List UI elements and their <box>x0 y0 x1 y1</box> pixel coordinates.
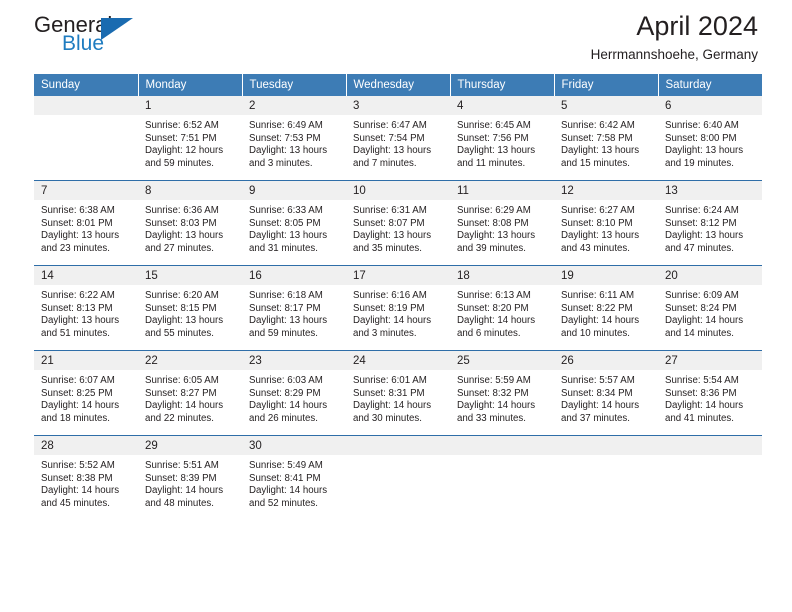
daylight-duration-line1: Daylight: 14 hours <box>665 400 756 413</box>
sunrise-time: Sunrise: 6:38 AM <box>41 205 132 218</box>
calendar-day-cell[interactable]: 29Sunrise: 5:51 AMSunset: 8:39 PMDayligh… <box>138 436 242 521</box>
daylight-duration-line2: and 33 minutes. <box>457 413 548 426</box>
daylight-duration-line1: Daylight: 14 hours <box>249 485 340 498</box>
day-cell-details: Sunrise: 5:51 AMSunset: 8:39 PMDaylight:… <box>138 455 242 510</box>
daylight-duration-line1: Daylight: 13 hours <box>41 315 132 328</box>
day-cell-details: Sunrise: 6:33 AMSunset: 8:05 PMDaylight:… <box>242 200 346 255</box>
day-number-band <box>34 96 138 115</box>
calendar-day-cell[interactable]: 13Sunrise: 6:24 AMSunset: 8:12 PMDayligh… <box>658 181 762 266</box>
sunrise-time: Sunrise: 6:31 AM <box>353 205 444 218</box>
day-cell-inner: 14Sunrise: 6:22 AMSunset: 8:13 PMDayligh… <box>34 266 138 350</box>
daylight-duration-line2: and 43 minutes. <box>561 243 652 256</box>
calendar-day-cell <box>346 436 450 521</box>
sunset-time: Sunset: 7:54 PM <box>353 133 444 146</box>
day-cell-details: Sunrise: 6:38 AMSunset: 8:01 PMDaylight:… <box>34 200 138 255</box>
calendar-day-cell[interactable]: 8Sunrise: 6:36 AMSunset: 8:03 PMDaylight… <box>138 181 242 266</box>
day-number-band: 7 <box>34 181 138 200</box>
dow-header-wednesday: Wednesday <box>346 74 450 96</box>
day-cell-inner: 10Sunrise: 6:31 AMSunset: 8:07 PMDayligh… <box>346 181 450 265</box>
day-cell-details: Sunrise: 6:20 AMSunset: 8:15 PMDaylight:… <box>138 285 242 340</box>
daylight-duration-line2: and 6 minutes. <box>457 328 548 341</box>
dow-header-sunday: Sunday <box>34 74 138 96</box>
calendar-day-cell[interactable]: 9Sunrise: 6:33 AMSunset: 8:05 PMDaylight… <box>242 181 346 266</box>
daylight-duration-line2: and 39 minutes. <box>457 243 548 256</box>
sunrise-time: Sunrise: 6:07 AM <box>41 375 132 388</box>
daylight-duration-line2: and 41 minutes. <box>665 413 756 426</box>
logo-text-blue: Blue <box>62 33 104 54</box>
day-cell-details: Sunrise: 6:40 AMSunset: 8:00 PMDaylight:… <box>658 115 762 170</box>
sunrise-time: Sunrise: 5:54 AM <box>665 375 756 388</box>
sunrise-time: Sunrise: 6:40 AM <box>665 120 756 133</box>
daylight-duration-line2: and 7 minutes. <box>353 158 444 171</box>
sunset-time: Sunset: 8:01 PM <box>41 218 132 231</box>
daylight-duration-line2: and 59 minutes. <box>249 328 340 341</box>
day-number: 14 <box>34 266 138 283</box>
calendar-page: General Blue April 2024 Herrmannshoehe, … <box>0 0 792 612</box>
calendar-day-cell[interactable]: 7Sunrise: 6:38 AMSunset: 8:01 PMDaylight… <box>34 181 138 266</box>
sunrise-time: Sunrise: 6:01 AM <box>353 375 444 388</box>
daylight-duration-line2: and 48 minutes. <box>145 498 236 511</box>
day-number: 24 <box>346 351 450 368</box>
daylight-duration-line2: and 47 minutes. <box>665 243 756 256</box>
day-cell-details: Sunrise: 6:09 AMSunset: 8:24 PMDaylight:… <box>658 285 762 340</box>
day-number: 20 <box>658 266 762 283</box>
calendar-day-cell <box>554 436 658 521</box>
location-subtitle: Herrmannshoehe, Germany <box>591 46 758 64</box>
calendar-day-cell[interactable]: 23Sunrise: 6:03 AMSunset: 8:29 PMDayligh… <box>242 351 346 436</box>
calendar-day-cell[interactable]: 19Sunrise: 6:11 AMSunset: 8:22 PMDayligh… <box>554 266 658 351</box>
day-cell-inner: 11Sunrise: 6:29 AMSunset: 8:08 PMDayligh… <box>450 181 554 265</box>
day-number-band <box>658 436 762 455</box>
sunset-time: Sunset: 8:36 PM <box>665 388 756 401</box>
sunrise-time: Sunrise: 6:52 AM <box>145 120 236 133</box>
sunrise-time: Sunrise: 6:09 AM <box>665 290 756 303</box>
daylight-duration-line2: and 55 minutes. <box>145 328 236 341</box>
day-cell-details: Sunrise: 6:52 AMSunset: 7:51 PMDaylight:… <box>138 115 242 170</box>
calendar-day-cell[interactable]: 1Sunrise: 6:52 AMSunset: 7:51 PMDaylight… <box>138 96 242 181</box>
daylight-duration-line2: and 30 minutes. <box>353 413 444 426</box>
day-cell-inner: 30Sunrise: 5:49 AMSunset: 8:41 PMDayligh… <box>242 436 346 520</box>
title-block: April 2024 Herrmannshoehe, Germany <box>591 10 758 64</box>
day-number-band: 30 <box>242 436 346 455</box>
day-number: 16 <box>242 266 346 283</box>
calendar-week-row: 14Sunrise: 6:22 AMSunset: 8:13 PMDayligh… <box>34 266 762 351</box>
day-cell-details: Sunrise: 6:01 AMSunset: 8:31 PMDaylight:… <box>346 370 450 425</box>
day-number-band: 21 <box>34 351 138 370</box>
daylight-duration-line2: and 15 minutes. <box>561 158 652 171</box>
daylight-duration-line1: Daylight: 13 hours <box>561 145 652 158</box>
day-cell-details: Sunrise: 6:16 AMSunset: 8:19 PMDaylight:… <box>346 285 450 340</box>
logo-triangle-icon <box>101 18 133 40</box>
dow-header-thursday: Thursday <box>450 74 554 96</box>
day-cell-details: Sunrise: 6:18 AMSunset: 8:17 PMDaylight:… <box>242 285 346 340</box>
day-cell-inner: 1Sunrise: 6:52 AMSunset: 7:51 PMDaylight… <box>138 96 242 180</box>
calendar-day-cell[interactable]: 5Sunrise: 6:42 AMSunset: 7:58 PMDaylight… <box>554 96 658 181</box>
day-number-band: 18 <box>450 266 554 285</box>
day-number-band: 9 <box>242 181 346 200</box>
day-cell-inner: 18Sunrise: 6:13 AMSunset: 8:20 PMDayligh… <box>450 266 554 350</box>
sunset-time: Sunset: 7:56 PM <box>457 133 548 146</box>
dow-header-saturday: Saturday <box>658 74 762 96</box>
day-number-band: 13 <box>658 181 762 200</box>
calendar-day-cell[interactable]: 3Sunrise: 6:47 AMSunset: 7:54 PMDaylight… <box>346 96 450 181</box>
day-number-band: 4 <box>450 96 554 115</box>
day-number: 21 <box>34 351 138 368</box>
day-number: 11 <box>450 181 554 198</box>
day-cell-details: Sunrise: 6:03 AMSunset: 8:29 PMDaylight:… <box>242 370 346 425</box>
day-cell-inner <box>554 436 658 520</box>
day-number <box>346 436 450 439</box>
day-number: 9 <box>242 181 346 198</box>
day-cell-inner: 20Sunrise: 6:09 AMSunset: 8:24 PMDayligh… <box>658 266 762 350</box>
calendar-day-cell[interactable]: 6Sunrise: 6:40 AMSunset: 8:00 PMDaylight… <box>658 96 762 181</box>
day-cell-details: Sunrise: 6:11 AMSunset: 8:22 PMDaylight:… <box>554 285 658 340</box>
daylight-duration-line2: and 26 minutes. <box>249 413 340 426</box>
calendar-day-cell[interactable]: 17Sunrise: 6:16 AMSunset: 8:19 PMDayligh… <box>346 266 450 351</box>
day-number-band: 28 <box>34 436 138 455</box>
day-number <box>34 96 138 99</box>
day-cell-inner <box>658 436 762 520</box>
calendar-day-cell[interactable]: 4Sunrise: 6:45 AMSunset: 7:56 PMDaylight… <box>450 96 554 181</box>
sunrise-time: Sunrise: 6:13 AM <box>457 290 548 303</box>
sunrise-time: Sunrise: 6:22 AM <box>41 290 132 303</box>
sunset-time: Sunset: 8:29 PM <box>249 388 340 401</box>
day-number-band: 6 <box>658 96 762 115</box>
day-number-band <box>554 436 658 455</box>
day-number <box>450 436 554 439</box>
sunset-time: Sunset: 8:32 PM <box>457 388 548 401</box>
calendar-day-cell[interactable]: 21Sunrise: 6:07 AMSunset: 8:25 PMDayligh… <box>34 351 138 436</box>
daylight-duration-line2: and 45 minutes. <box>41 498 132 511</box>
calendar-day-cell[interactable]: 2Sunrise: 6:49 AMSunset: 7:53 PMDaylight… <box>242 96 346 181</box>
day-cell-inner: 21Sunrise: 6:07 AMSunset: 8:25 PMDayligh… <box>34 351 138 435</box>
sunrise-time: Sunrise: 6:05 AM <box>145 375 236 388</box>
sunset-time: Sunset: 8:19 PM <box>353 303 444 316</box>
day-cell-details: Sunrise: 6:36 AMSunset: 8:03 PMDaylight:… <box>138 200 242 255</box>
day-number-band: 12 <box>554 181 658 200</box>
dow-header-friday: Friday <box>554 74 658 96</box>
day-cell-inner <box>34 96 138 180</box>
day-number: 29 <box>138 436 242 453</box>
day-number-band: 3 <box>346 96 450 115</box>
day-cell-details: Sunrise: 6:22 AMSunset: 8:13 PMDaylight:… <box>34 285 138 340</box>
day-number-band: 17 <box>346 266 450 285</box>
calendar-day-cell[interactable]: 12Sunrise: 6:27 AMSunset: 8:10 PMDayligh… <box>554 181 658 266</box>
day-number-band: 22 <box>138 351 242 370</box>
daylight-duration-line2: and 52 minutes. <box>249 498 340 511</box>
day-number: 4 <box>450 96 554 113</box>
day-number: 1 <box>138 96 242 113</box>
calendar-day-cell[interactable]: 30Sunrise: 5:49 AMSunset: 8:41 PMDayligh… <box>242 436 346 521</box>
sunset-time: Sunset: 8:07 PM <box>353 218 444 231</box>
daylight-duration-line1: Daylight: 13 hours <box>665 230 756 243</box>
sunrise-time: Sunrise: 6:11 AM <box>561 290 652 303</box>
day-cell-details: Sunrise: 6:13 AMSunset: 8:20 PMDaylight:… <box>450 285 554 340</box>
day-number-band <box>450 436 554 455</box>
day-cell-inner: 28Sunrise: 5:52 AMSunset: 8:38 PMDayligh… <box>34 436 138 520</box>
day-number: 7 <box>34 181 138 198</box>
sunrise-time: Sunrise: 6:20 AM <box>145 290 236 303</box>
daylight-duration-line2: and 51 minutes. <box>41 328 132 341</box>
calendar-day-cell[interactable]: 25Sunrise: 5:59 AMSunset: 8:32 PMDayligh… <box>450 351 554 436</box>
calendar-day-cell[interactable]: 20Sunrise: 6:09 AMSunset: 8:24 PMDayligh… <box>658 266 762 351</box>
sunset-time: Sunset: 8:08 PM <box>457 218 548 231</box>
calendar-day-cell <box>658 436 762 521</box>
day-cell-inner: 15Sunrise: 6:20 AMSunset: 8:15 PMDayligh… <box>138 266 242 350</box>
day-number: 22 <box>138 351 242 368</box>
calendar-day-cell <box>450 436 554 521</box>
day-cell-inner <box>450 436 554 520</box>
day-cell-inner: 29Sunrise: 5:51 AMSunset: 8:39 PMDayligh… <box>138 436 242 520</box>
day-cell-inner: 25Sunrise: 5:59 AMSunset: 8:32 PMDayligh… <box>450 351 554 435</box>
day-number-band: 25 <box>450 351 554 370</box>
sunset-time: Sunset: 8:38 PM <box>41 473 132 486</box>
calendar-day-cell[interactable]: 18Sunrise: 6:13 AMSunset: 8:20 PMDayligh… <box>450 266 554 351</box>
day-cell-details: Sunrise: 6:49 AMSunset: 7:53 PMDaylight:… <box>242 115 346 170</box>
daylight-duration-line2: and 3 minutes. <box>353 328 444 341</box>
dow-header-tuesday: Tuesday <box>242 74 346 96</box>
day-cell-details: Sunrise: 6:24 AMSunset: 8:12 PMDaylight:… <box>658 200 762 255</box>
sunrise-time: Sunrise: 6:49 AM <box>249 120 340 133</box>
page-header: General Blue April 2024 Herrmannshoehe, … <box>34 0 758 74</box>
day-number-band: 24 <box>346 351 450 370</box>
day-cell-inner: 23Sunrise: 6:03 AMSunset: 8:29 PMDayligh… <box>242 351 346 435</box>
daylight-duration-line1: Daylight: 14 hours <box>457 315 548 328</box>
sunrise-time: Sunrise: 6:03 AM <box>249 375 340 388</box>
daylight-duration-line2: and 27 minutes. <box>145 243 236 256</box>
daylight-duration-line2: and 59 minutes. <box>145 158 236 171</box>
calendar-day-cell <box>34 96 138 181</box>
sunrise-time: Sunrise: 5:51 AM <box>145 460 236 473</box>
daylight-duration-line1: Daylight: 13 hours <box>145 315 236 328</box>
day-number-band: 11 <box>450 181 554 200</box>
day-cell-details: Sunrise: 5:57 AMSunset: 8:34 PMDaylight:… <box>554 370 658 425</box>
day-number <box>658 436 762 439</box>
daylight-duration-line2: and 10 minutes. <box>561 328 652 341</box>
day-cell-details: Sunrise: 6:31 AMSunset: 8:07 PMDaylight:… <box>346 200 450 255</box>
sunrise-time: Sunrise: 5:49 AM <box>249 460 340 473</box>
daylight-duration-line1: Daylight: 13 hours <box>353 145 444 158</box>
sunrise-time: Sunrise: 6:33 AM <box>249 205 340 218</box>
day-number-band: 5 <box>554 96 658 115</box>
day-cell-inner: 3Sunrise: 6:47 AMSunset: 7:54 PMDaylight… <box>346 96 450 180</box>
calendar-week-row: 21Sunrise: 6:07 AMSunset: 8:25 PMDayligh… <box>34 351 762 436</box>
sunrise-time: Sunrise: 5:59 AM <box>457 375 548 388</box>
calendar-day-cell[interactable]: 14Sunrise: 6:22 AMSunset: 8:13 PMDayligh… <box>34 266 138 351</box>
calendar-week-row: 7Sunrise: 6:38 AMSunset: 8:01 PMDaylight… <box>34 181 762 266</box>
calendar-day-cell[interactable]: 28Sunrise: 5:52 AMSunset: 8:38 PMDayligh… <box>34 436 138 521</box>
calendar-day-cell[interactable]: 27Sunrise: 5:54 AMSunset: 8:36 PMDayligh… <box>658 351 762 436</box>
day-number: 28 <box>34 436 138 453</box>
daylight-duration-line2: and 37 minutes. <box>561 413 652 426</box>
day-number: 18 <box>450 266 554 283</box>
calendar-day-cell[interactable]: 24Sunrise: 6:01 AMSunset: 8:31 PMDayligh… <box>346 351 450 436</box>
daylight-duration-line2: and 14 minutes. <box>665 328 756 341</box>
day-number: 8 <box>138 181 242 198</box>
sunset-time: Sunset: 8:03 PM <box>145 218 236 231</box>
day-number <box>554 436 658 439</box>
day-number: 23 <box>242 351 346 368</box>
day-number-band: 2 <box>242 96 346 115</box>
day-cell-inner: 13Sunrise: 6:24 AMSunset: 8:12 PMDayligh… <box>658 181 762 265</box>
day-number-band: 16 <box>242 266 346 285</box>
sunset-time: Sunset: 8:05 PM <box>249 218 340 231</box>
calendar-day-cell[interactable]: 15Sunrise: 6:20 AMSunset: 8:15 PMDayligh… <box>138 266 242 351</box>
day-number-band: 15 <box>138 266 242 285</box>
day-number-band: 8 <box>138 181 242 200</box>
day-cell-inner: 24Sunrise: 6:01 AMSunset: 8:31 PMDayligh… <box>346 351 450 435</box>
day-number-band: 29 <box>138 436 242 455</box>
sunset-time: Sunset: 8:10 PM <box>561 218 652 231</box>
daylight-duration-line1: Daylight: 14 hours <box>561 400 652 413</box>
day-number-band: 26 <box>554 351 658 370</box>
daylight-duration-line2: and 18 minutes. <box>41 413 132 426</box>
sunrise-time: Sunrise: 6:29 AM <box>457 205 548 218</box>
day-cell-inner: 12Sunrise: 6:27 AMSunset: 8:10 PMDayligh… <box>554 181 658 265</box>
daylight-duration-line1: Daylight: 13 hours <box>249 230 340 243</box>
day-cell-inner: 6Sunrise: 6:40 AMSunset: 8:00 PMDaylight… <box>658 96 762 180</box>
sunset-time: Sunset: 8:27 PM <box>145 388 236 401</box>
day-number-band: 23 <box>242 351 346 370</box>
day-cell-inner: 9Sunrise: 6:33 AMSunset: 8:05 PMDaylight… <box>242 181 346 265</box>
daylight-duration-line2: and 3 minutes. <box>249 158 340 171</box>
day-cell-inner: 7Sunrise: 6:38 AMSunset: 8:01 PMDaylight… <box>34 181 138 265</box>
sunrise-time: Sunrise: 6:36 AM <box>145 205 236 218</box>
day-cell-inner <box>346 436 450 520</box>
daylight-duration-line2: and 19 minutes. <box>665 158 756 171</box>
daylight-duration-line1: Daylight: 14 hours <box>665 315 756 328</box>
day-number: 5 <box>554 96 658 113</box>
daylight-duration-line1: Daylight: 13 hours <box>353 230 444 243</box>
sunset-time: Sunset: 8:25 PM <box>41 388 132 401</box>
day-cell-inner: 26Sunrise: 5:57 AMSunset: 8:34 PMDayligh… <box>554 351 658 435</box>
sunset-time: Sunset: 8:15 PM <box>145 303 236 316</box>
daylight-duration-line1: Daylight: 13 hours <box>249 315 340 328</box>
sunset-time: Sunset: 8:39 PM <box>145 473 236 486</box>
sunset-time: Sunset: 8:22 PM <box>561 303 652 316</box>
day-number: 6 <box>658 96 762 113</box>
daylight-duration-line2: and 22 minutes. <box>145 413 236 426</box>
day-cell-details: Sunrise: 6:29 AMSunset: 8:08 PMDaylight:… <box>450 200 554 255</box>
day-cell-inner: 4Sunrise: 6:45 AMSunset: 7:56 PMDaylight… <box>450 96 554 180</box>
day-number: 12 <box>554 181 658 198</box>
daylight-duration-line1: Daylight: 13 hours <box>145 230 236 243</box>
day-number: 27 <box>658 351 762 368</box>
day-cell-details: Sunrise: 6:07 AMSunset: 8:25 PMDaylight:… <box>34 370 138 425</box>
calendar-day-cell[interactable]: 16Sunrise: 6:18 AMSunset: 8:17 PMDayligh… <box>242 266 346 351</box>
daylight-duration-line1: Daylight: 14 hours <box>41 485 132 498</box>
daylight-duration-line1: Daylight: 13 hours <box>41 230 132 243</box>
sunset-time: Sunset: 8:24 PM <box>665 303 756 316</box>
day-number: 26 <box>554 351 658 368</box>
day-cell-details: Sunrise: 6:27 AMSunset: 8:10 PMDaylight:… <box>554 200 658 255</box>
sunrise-time: Sunrise: 6:47 AM <box>353 120 444 133</box>
sunrise-time: Sunrise: 6:16 AM <box>353 290 444 303</box>
daylight-duration-line1: Daylight: 14 hours <box>561 315 652 328</box>
day-cell-inner: 19Sunrise: 6:11 AMSunset: 8:22 PMDayligh… <box>554 266 658 350</box>
day-cell-inner: 8Sunrise: 6:36 AMSunset: 8:03 PMDaylight… <box>138 181 242 265</box>
day-number-band: 27 <box>658 351 762 370</box>
day-number-band: 14 <box>34 266 138 285</box>
daylight-duration-line1: Daylight: 14 hours <box>145 400 236 413</box>
day-number-band <box>346 436 450 455</box>
daylight-duration-line2: and 31 minutes. <box>249 243 340 256</box>
day-number: 2 <box>242 96 346 113</box>
day-number: 13 <box>658 181 762 198</box>
sunset-time: Sunset: 8:12 PM <box>665 218 756 231</box>
calendar-body: 1Sunrise: 6:52 AMSunset: 7:51 PMDaylight… <box>34 96 762 520</box>
sunrise-sunset-calendar: Sunday Monday Tuesday Wednesday Thursday… <box>34 74 762 520</box>
day-cell-inner: 17Sunrise: 6:16 AMSunset: 8:19 PMDayligh… <box>346 266 450 350</box>
sunrise-time: Sunrise: 6:42 AM <box>561 120 652 133</box>
sunset-time: Sunset: 8:13 PM <box>41 303 132 316</box>
daylight-duration-line1: Daylight: 13 hours <box>249 145 340 158</box>
daylight-duration-line1: Daylight: 14 hours <box>353 400 444 413</box>
day-number-band: 10 <box>346 181 450 200</box>
daylight-duration-line2: and 35 minutes. <box>353 243 444 256</box>
day-cell-details: Sunrise: 6:42 AMSunset: 7:58 PMDaylight:… <box>554 115 658 170</box>
day-cell-inner: 22Sunrise: 6:05 AMSunset: 8:27 PMDayligh… <box>138 351 242 435</box>
sunset-time: Sunset: 7:58 PM <box>561 133 652 146</box>
daylight-duration-line1: Daylight: 14 hours <box>353 315 444 328</box>
day-number: 10 <box>346 181 450 198</box>
day-cell-details: Sunrise: 6:05 AMSunset: 8:27 PMDaylight:… <box>138 370 242 425</box>
day-cell-details: Sunrise: 6:47 AMSunset: 7:54 PMDaylight:… <box>346 115 450 170</box>
sunset-time: Sunset: 8:00 PM <box>665 133 756 146</box>
sunset-time: Sunset: 8:34 PM <box>561 388 652 401</box>
day-number: 17 <box>346 266 450 283</box>
calendar-day-cell[interactable]: 22Sunrise: 6:05 AMSunset: 8:27 PMDayligh… <box>138 351 242 436</box>
day-cell-details: Sunrise: 5:49 AMSunset: 8:41 PMDaylight:… <box>242 455 346 510</box>
day-number-band: 19 <box>554 266 658 285</box>
sunrise-time: Sunrise: 6:24 AM <box>665 205 756 218</box>
sunset-time: Sunset: 8:17 PM <box>249 303 340 316</box>
day-number: 30 <box>242 436 346 453</box>
daylight-duration-line1: Daylight: 14 hours <box>457 400 548 413</box>
daylight-duration-line1: Daylight: 13 hours <box>561 230 652 243</box>
day-of-week-header-row: Sunday Monday Tuesday Wednesday Thursday… <box>34 74 762 96</box>
sunset-time: Sunset: 7:53 PM <box>249 133 340 146</box>
page-title: April 2024 <box>591 10 758 42</box>
day-cell-details: Sunrise: 5:54 AMSunset: 8:36 PMDaylight:… <box>658 370 762 425</box>
daylight-duration-line1: Daylight: 14 hours <box>145 485 236 498</box>
day-cell-details: Sunrise: 5:59 AMSunset: 8:32 PMDaylight:… <box>450 370 554 425</box>
sunrise-time: Sunrise: 5:57 AM <box>561 375 652 388</box>
sunrise-time: Sunrise: 6:18 AM <box>249 290 340 303</box>
day-cell-details: Sunrise: 5:52 AMSunset: 8:38 PMDaylight:… <box>34 455 138 510</box>
daylight-duration-line1: Daylight: 12 hours <box>145 145 236 158</box>
day-number: 25 <box>450 351 554 368</box>
day-number-band: 20 <box>658 266 762 285</box>
daylight-duration-line1: Daylight: 14 hours <box>41 400 132 413</box>
daylight-duration-line2: and 11 minutes. <box>457 158 548 171</box>
dow-header-monday: Monday <box>138 74 242 96</box>
day-number: 15 <box>138 266 242 283</box>
generalblue-logo: General Blue <box>34 14 184 64</box>
calendar-week-row: 28Sunrise: 5:52 AMSunset: 8:38 PMDayligh… <box>34 436 762 521</box>
sunset-time: Sunset: 8:31 PM <box>353 388 444 401</box>
daylight-duration-line1: Daylight: 13 hours <box>457 145 548 158</box>
calendar-day-cell[interactable]: 26Sunrise: 5:57 AMSunset: 8:34 PMDayligh… <box>554 351 658 436</box>
day-cell-inner: 16Sunrise: 6:18 AMSunset: 8:17 PMDayligh… <box>242 266 346 350</box>
calendar-day-cell[interactable]: 11Sunrise: 6:29 AMSunset: 8:08 PMDayligh… <box>450 181 554 266</box>
sunset-time: Sunset: 8:20 PM <box>457 303 548 316</box>
daylight-duration-line1: Daylight: 13 hours <box>665 145 756 158</box>
calendar-day-cell[interactable]: 10Sunrise: 6:31 AMSunset: 8:07 PMDayligh… <box>346 181 450 266</box>
day-cell-inner: 27Sunrise: 5:54 AMSunset: 8:36 PMDayligh… <box>658 351 762 435</box>
sunset-time: Sunset: 8:41 PM <box>249 473 340 486</box>
sunrise-time: Sunrise: 5:52 AM <box>41 460 132 473</box>
